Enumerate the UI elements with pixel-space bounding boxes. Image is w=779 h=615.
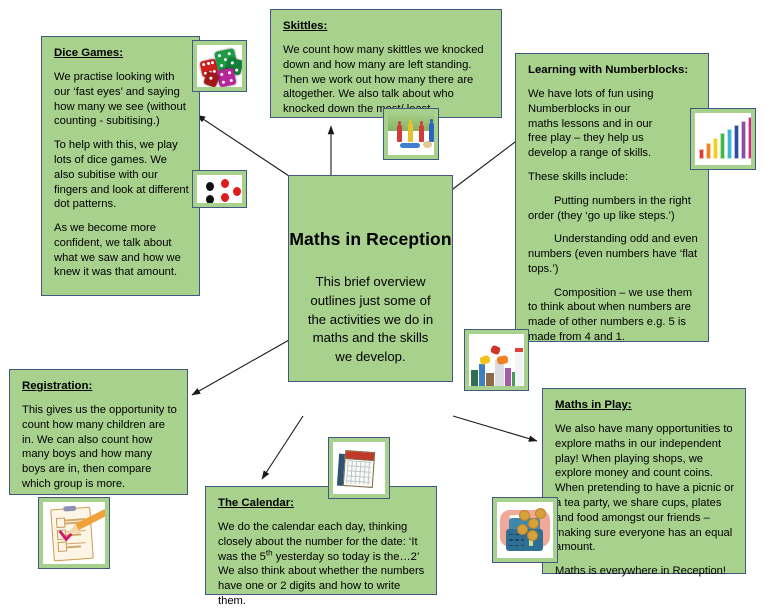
arrow-center-to-registration (192, 340, 289, 395)
card-registration-p1: This gives us the opportunity to count h… (22, 403, 177, 492)
card-maths-in-play-p2: Maths is everywhere in Reception! (555, 564, 735, 579)
clipboard-checklist-icon (38, 497, 110, 569)
card-center-maths-in-reception[interactable]: Maths in Reception This brief overview o… (288, 175, 453, 382)
card-dice-games-heading: Dice Games: (54, 46, 189, 61)
ordinal-suffix: th (266, 548, 273, 557)
arrow-center-to-calendar (262, 416, 303, 479)
card-numberblocks-p3: Putting numbers in the right order (they… (528, 194, 698, 224)
arrow-center-to-play (453, 416, 537, 441)
card-calendar-p1: We do the calendar each day, thinking cl… (218, 520, 426, 609)
card-dice-games[interactable]: Dice Games: We practise looking with our… (41, 36, 200, 296)
mind-map-canvas: Dice Games: We practise looking with our… (0, 0, 779, 615)
dot-pattern-icon (192, 170, 247, 208)
card-dice-games-p1: We practise looking with our ‘fast eyes’… (54, 70, 189, 129)
card-numberblocks-p4: Understanding odd and even numbers (even… (528, 232, 698, 276)
card-registration[interactable]: Registration: This gives us the opportun… (9, 369, 188, 495)
dice-photo-icon (192, 40, 247, 92)
numberblocks-chart-icon (690, 108, 756, 170)
card-numberblocks-heading: Learning with Numberblocks: (528, 63, 698, 78)
card-dice-games-p2: To help with this, we play lots of dice … (54, 138, 189, 212)
card-dice-games-p3: As we become more confident, we talk abo… (54, 221, 189, 280)
card-numberblocks-p1: We have lots of fun using Numberblocks i… (528, 87, 656, 161)
calendar-icon (328, 437, 390, 499)
center-subtitle: This brief overview outlines just some o… (289, 273, 452, 367)
card-calendar-heading: The Calendar: (218, 496, 426, 511)
card-numberblocks-p5: Composition – we use them to think about… (528, 286, 698, 345)
card-calendar[interactable]: The Calendar: We do the calendar each da… (205, 486, 437, 595)
card-skittles-heading: Skittles: (283, 19, 491, 34)
card-numberblocks[interactable]: Learning with Numberblocks: We have lots… (515, 53, 709, 342)
card-numberblocks-p2: These skills include: (528, 170, 698, 185)
card-skittles-p1: We count how many skittles we knocked do… (283, 43, 491, 117)
page-title: Maths in Reception (289, 228, 452, 251)
numberblocks-city-icon (464, 329, 529, 391)
skittles-photo-icon (383, 108, 439, 160)
card-registration-heading: Registration: (22, 379, 177, 394)
arrow-center-to-dice (197, 115, 289, 176)
card-maths-in-play-p1: We also have many opportunities to explo… (555, 422, 735, 555)
cash-register-icon (492, 497, 558, 563)
card-skittles[interactable]: Skittles: We count how many skittles we … (270, 9, 502, 118)
card-maths-in-play-heading: Maths in Play: (555, 398, 735, 413)
card-maths-in-play[interactable]: Maths in Play: We also have many opportu… (542, 388, 746, 574)
